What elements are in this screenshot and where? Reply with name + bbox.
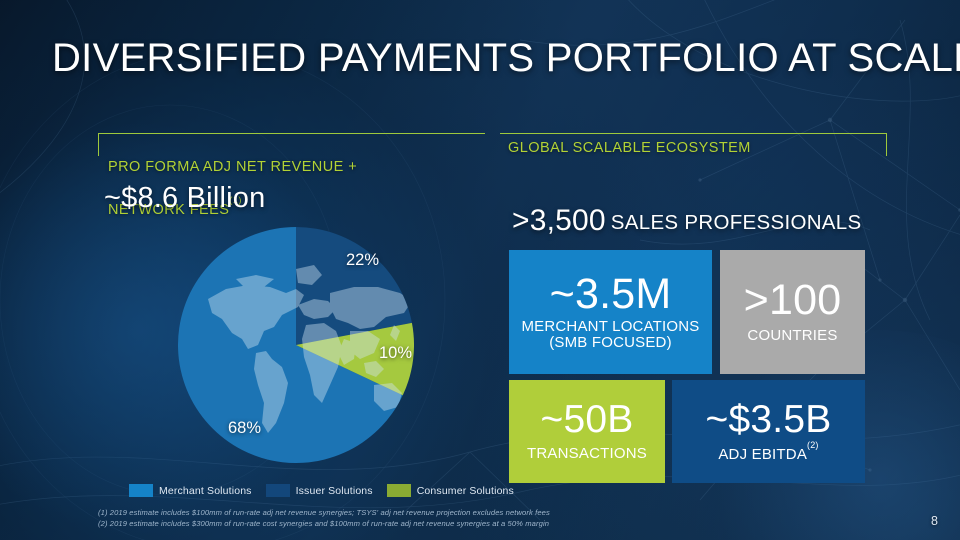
legend-item-issuer-solutions: Issuer Solutions xyxy=(266,484,373,497)
footnote-marker-2: (2) xyxy=(807,440,819,450)
left-panel-heading-line1: PRO FORMA ADJ NET REVENUE + xyxy=(108,159,357,175)
legend-label-issuer: Issuer Solutions xyxy=(296,485,373,497)
stat-value-merchant-locations: ~3.5M xyxy=(550,273,672,316)
stat-caption-transactions: TRANSACTIONS xyxy=(527,446,647,462)
footnote-1: (1) 2019 estimate includes $100mm of run… xyxy=(98,508,550,519)
stat-caption-merchant-locations: MERCHANT LOCATIONS (SMB FOCUSED) xyxy=(521,319,699,351)
stat-value-transactions: ~50B xyxy=(541,400,634,439)
footnote-2: (2) 2019 estimate includes $300mm of run… xyxy=(98,519,550,530)
stat-caption-ebitda-text: ADJ EBITDA xyxy=(718,446,807,463)
stat-caption-adj-ebitda: ADJ EBITDA(2) xyxy=(718,446,818,463)
stat-caption-merchant-line1: MERCHANT LOCATIONS xyxy=(521,318,699,335)
pie-label-merchant-percent: 68% xyxy=(228,419,261,438)
sales-professionals-number: >3,500 xyxy=(512,204,606,237)
footnotes: (1) 2019 estimate includes $100mm of run… xyxy=(98,508,550,529)
page-number: 8 xyxy=(931,514,938,528)
stat-tile-countries: >100 COUNTRIES xyxy=(720,250,865,374)
page-title: DIVERSIFIED PAYMENTS PORTFOLIO AT SCALE xyxy=(52,36,960,81)
revenue-value: ~$8.6 Billion xyxy=(104,182,265,215)
pie-legend: Merchant Solutions Issuer Solutions Cons… xyxy=(129,484,528,497)
pie-label-consumer-percent: 10% xyxy=(379,344,412,363)
stat-value-countries: >100 xyxy=(744,279,842,322)
legend-swatch-issuer xyxy=(266,484,290,497)
stat-caption-countries: COUNTRIES xyxy=(747,328,837,344)
stat-caption-merchant-line2: (SMB FOCUSED) xyxy=(549,334,672,351)
stat-value-adj-ebitda: ~$3.5B xyxy=(706,400,832,439)
legend-label-merchant: Merchant Solutions xyxy=(159,485,252,497)
stat-tile-adj-ebitda: ~$3.5B ADJ EBITDA(2) xyxy=(672,380,865,483)
slide-canvas: DIVERSIFIED PAYMENTS PORTFOLIO AT SCALE … xyxy=(0,0,960,540)
pie-label-issuer-percent: 22% xyxy=(346,251,379,270)
legend-swatch-consumer xyxy=(387,484,411,497)
sales-professionals-stat: >3,500SALES PROFESSIONALS xyxy=(512,204,861,238)
sales-professionals-label: SALES PROFESSIONALS xyxy=(611,211,862,234)
legend-item-merchant-solutions: Merchant Solutions xyxy=(129,484,252,497)
legend-label-consumer: Consumer Solutions xyxy=(417,485,514,497)
legend-swatch-merchant xyxy=(129,484,153,497)
right-panel-heading: GLOBAL SCALABLE ECOSYSTEM xyxy=(508,139,751,158)
stat-tile-transactions: ~50B TRANSACTIONS xyxy=(509,380,665,483)
stat-tile-merchant-locations: ~3.5M MERCHANT LOCATIONS (SMB FOCUSED) xyxy=(509,250,712,374)
legend-item-consumer-solutions: Consumer Solutions xyxy=(387,484,514,497)
